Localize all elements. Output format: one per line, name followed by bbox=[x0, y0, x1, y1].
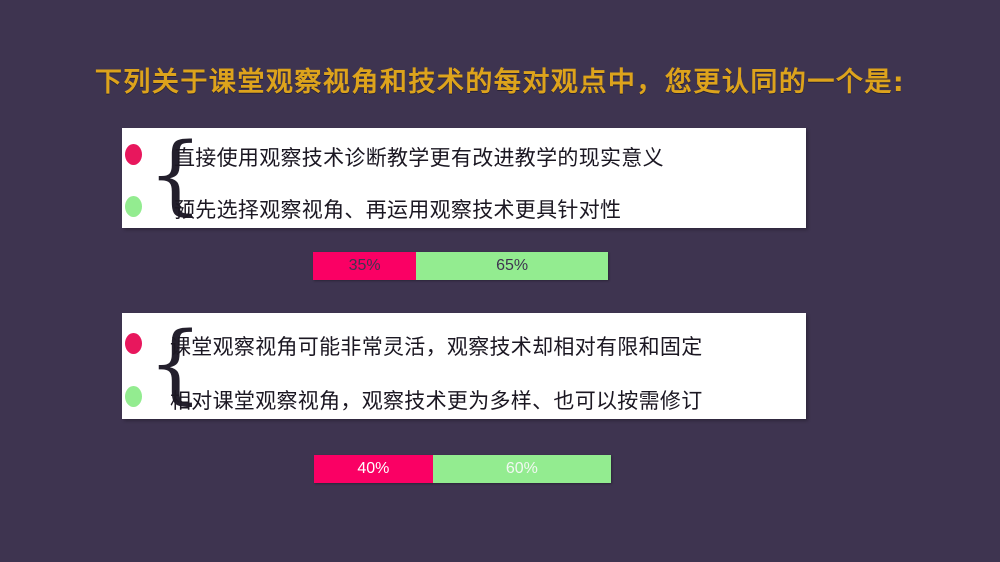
curly-brace-icon: { bbox=[148, 325, 172, 415]
statement-option-b: 相对课堂观察视角，观察技术更为多样、也可以按需修订 bbox=[170, 385, 703, 415]
statement-panel-1: { 直接使用观察技术诊断教学更有改进教学的现实意义 预先选择观察视角、再运用观察… bbox=[122, 128, 806, 228]
result-segment-a: 40% bbox=[314, 455, 433, 483]
survey-slide: 下列关于课堂观察视角和技术的每对观点中，您更认同的一个是: { 直接使用观察技术… bbox=[0, 0, 1000, 562]
bullet-option-a-icon bbox=[125, 144, 142, 165]
result-segment-b: 60% bbox=[433, 455, 611, 483]
statement-option-a: 课堂观察视角可能非常灵活，观察技术却相对有限和固定 bbox=[170, 331, 703, 361]
bullet-option-b-icon bbox=[125, 196, 142, 217]
result-segment-b: 65% bbox=[416, 252, 608, 280]
bullet-option-b-icon bbox=[125, 386, 142, 407]
curly-brace-icon: { bbox=[148, 136, 172, 222]
page-title: 下列关于课堂观察视角和技术的每对观点中，您更认同的一个是: bbox=[0, 60, 1000, 99]
bullet-option-a-icon bbox=[125, 333, 142, 354]
result-bar-2: 40% 60% bbox=[314, 455, 611, 483]
result-bar-1: 35% 65% bbox=[313, 252, 608, 280]
statement-option-a: 直接使用观察技术诊断教学更有改进教学的现实意义 bbox=[174, 142, 664, 172]
statement-option-b: 预先选择观察视角、再运用观察技术更具针对性 bbox=[174, 194, 621, 224]
result-segment-a: 35% bbox=[313, 252, 416, 280]
statement-panel-2: { 课堂观察视角可能非常灵活，观察技术却相对有限和固定 相对课堂观察视角，观察技… bbox=[122, 313, 806, 419]
